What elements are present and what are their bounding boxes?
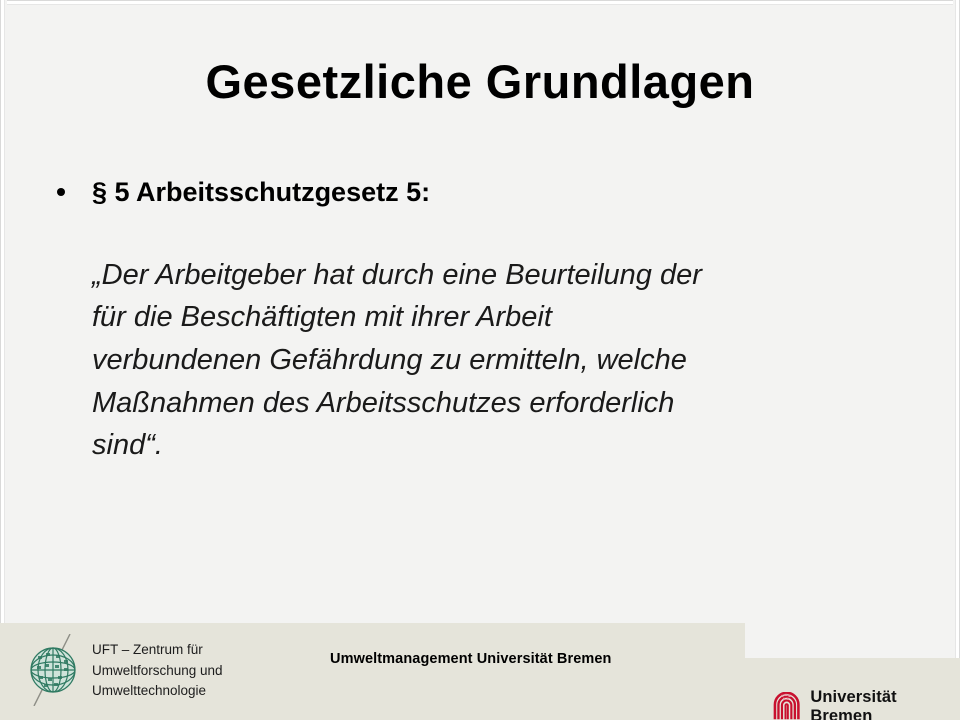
uft-institute-label: UFT – Zentrum für Umweltforschung und Um…: [92, 640, 322, 702]
slide-body: § 5 Arbeitsschutzgesetz 5: „Der Arbeitge…: [50, 176, 910, 467]
quoted-law-paragraph: „Der Arbeitgeber hat durch eine Beurteil…: [50, 254, 910, 467]
green-globe-icon: [24, 634, 82, 706]
uni-bremen-arch-icon: [772, 692, 801, 720]
slide-title: Gesetzliche Grundlagen: [0, 56, 960, 108]
slide-frame-right-edge: [953, 0, 960, 720]
bullet-dot-icon: [57, 188, 65, 196]
bullet-list-item: § 5 Arbeitsschutzgesetz 5:: [50, 176, 910, 210]
footer-center-title: Umweltmanagement Universität Bremen: [330, 651, 612, 667]
bullet-item-label: § 5 Arbeitsschutzgesetz 5:: [92, 177, 430, 207]
slide-frame-left-edge: [0, 0, 7, 720]
university-bremen-logo: Universität Bremen: [772, 688, 960, 720]
university-bremen-label: Universität Bremen: [810, 688, 960, 720]
slide-frame-top-edge: [0, 0, 960, 7]
presentation-slide: Gesetzliche Grundlagen § 5 Arbeitsschutz…: [0, 0, 960, 720]
